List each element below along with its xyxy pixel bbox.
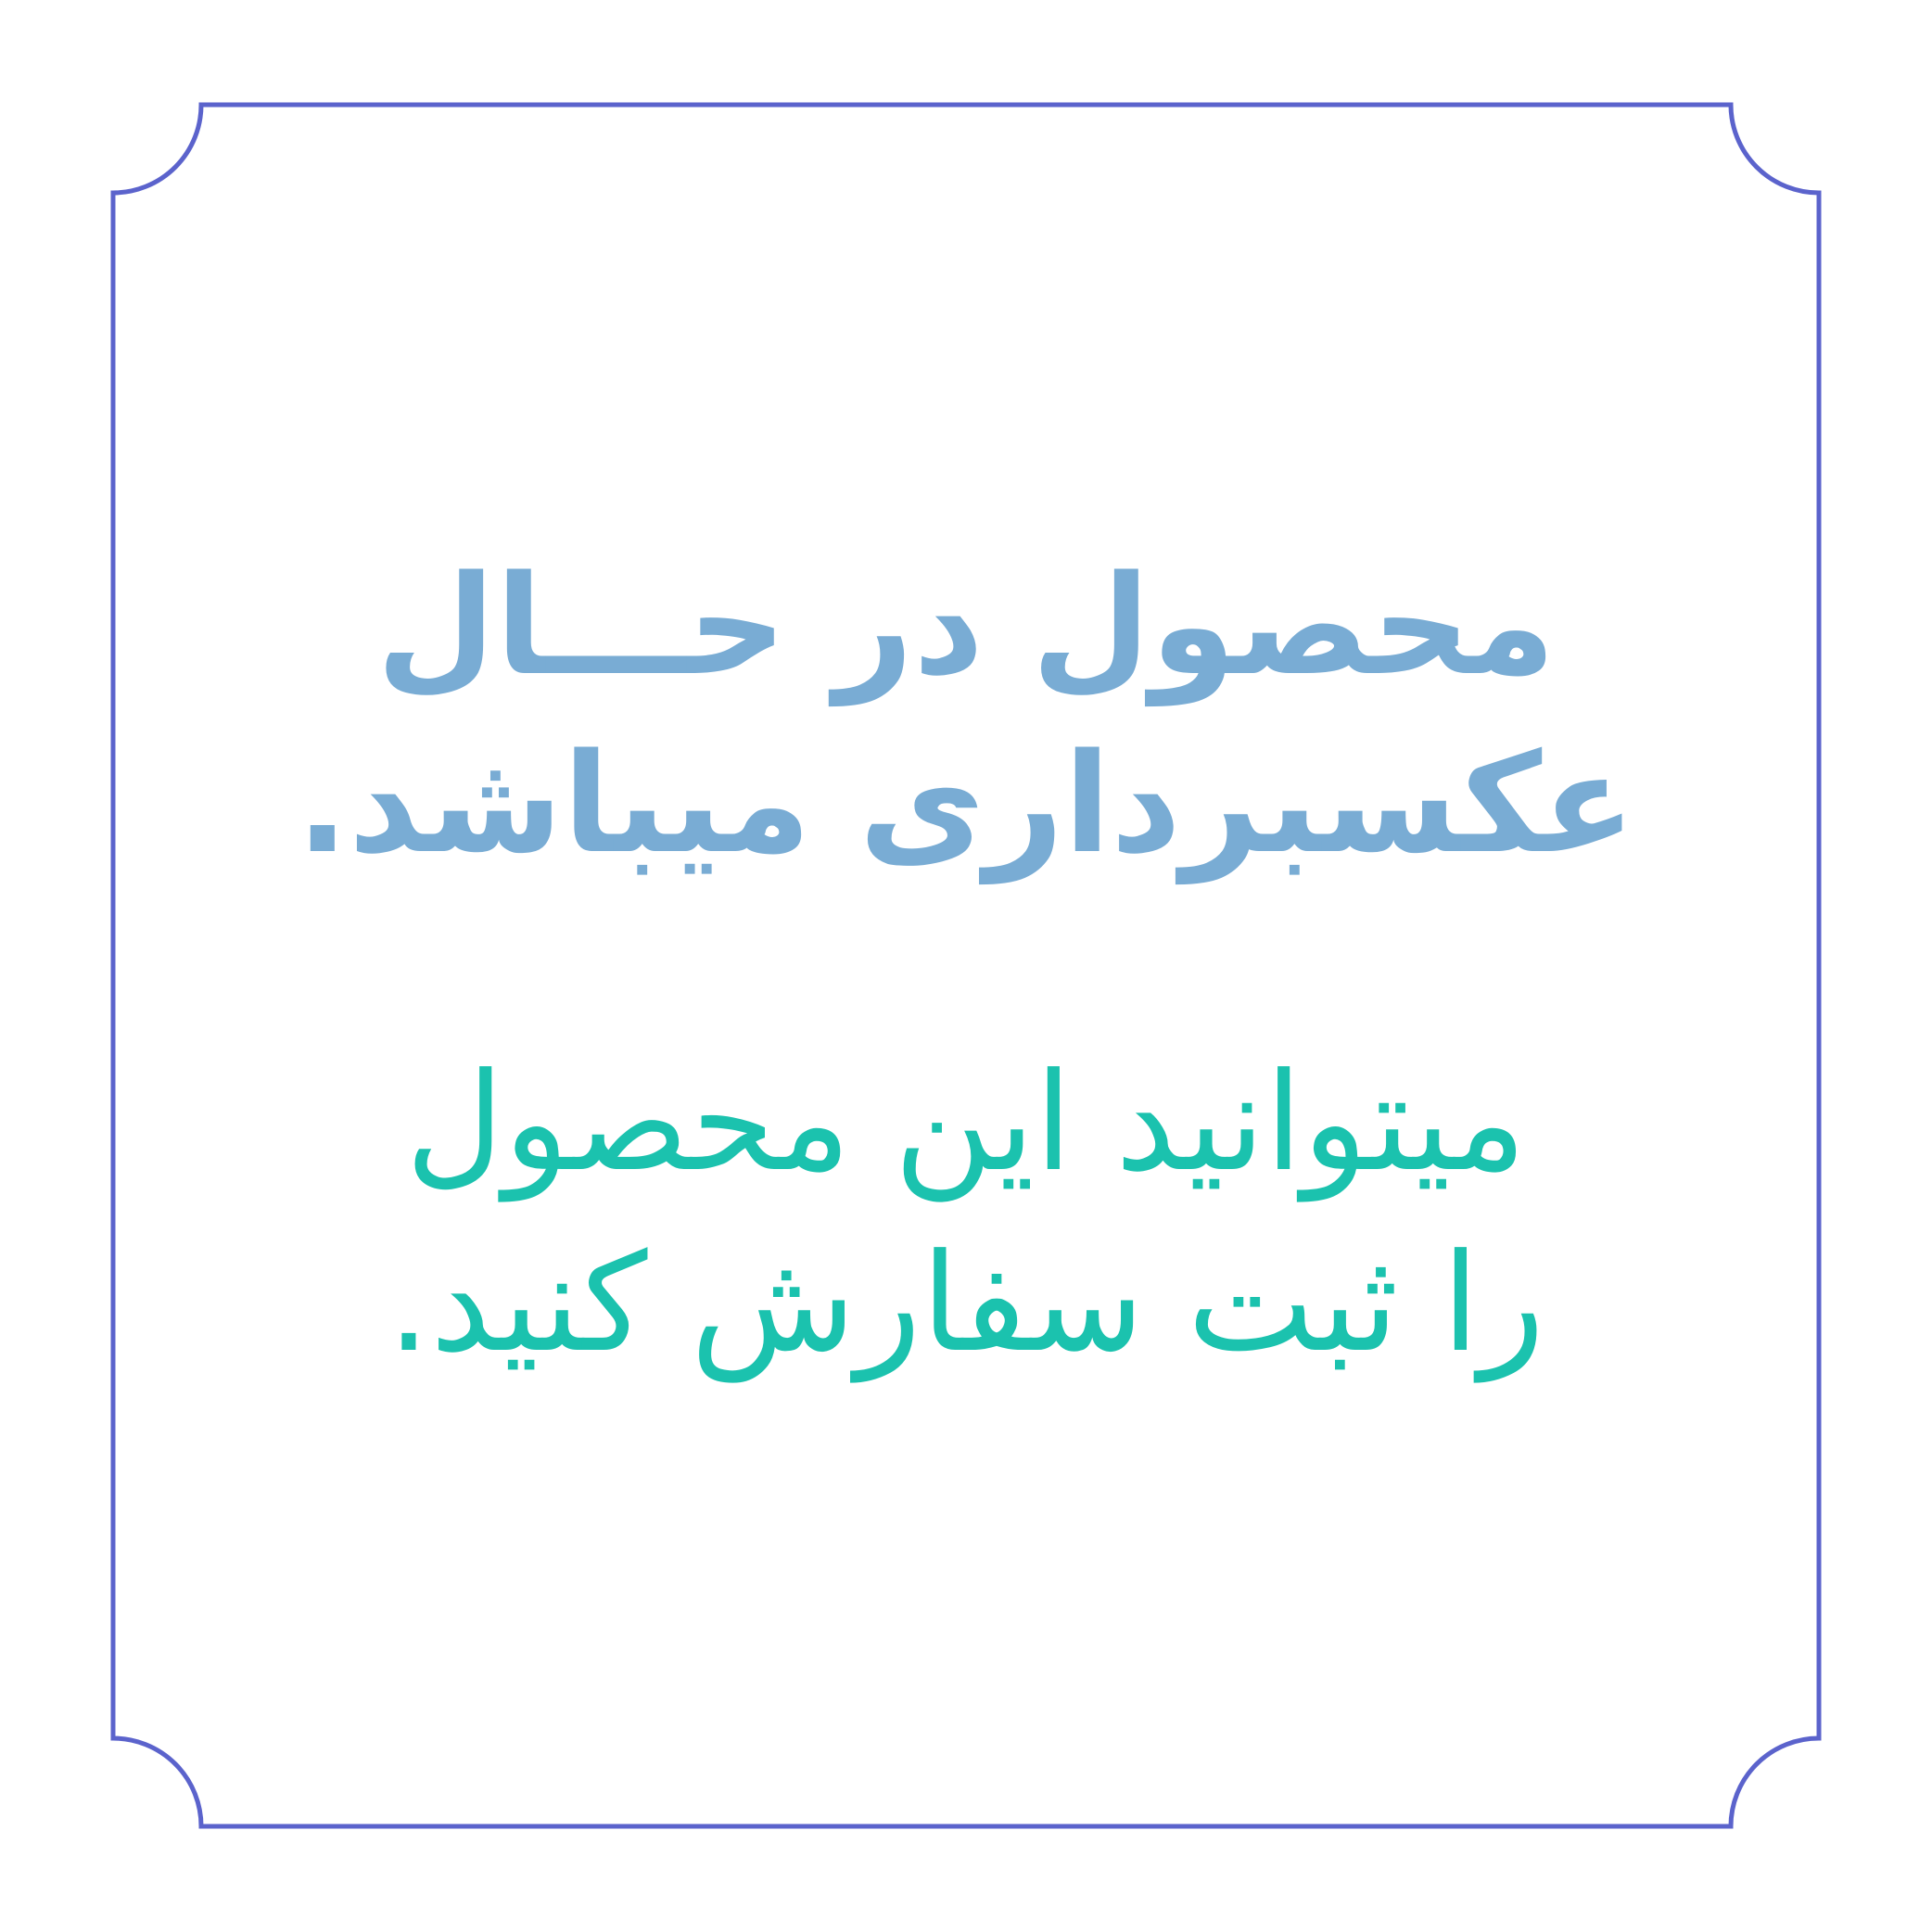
notice-line-1: محصول در حـــال <box>271 537 1661 715</box>
notice-line-2: عکسبرداری میباشد. <box>271 715 1661 893</box>
cta-line-2: را ثبت سفارش کنید. <box>271 1214 1661 1395</box>
placeholder-card: محصول در حـــال عکسبرداری میباشد. میتوان… <box>0 0 1932 1932</box>
message-stack: محصول در حـــال عکسبرداری میباشد. میتوان… <box>0 0 1932 1932</box>
cta-block: میتوانید این محصول را ثبت سفارش کنید. <box>271 1033 1661 1395</box>
cta-line-1: میتوانید این محصول <box>271 1033 1661 1214</box>
notice-block: محصول در حـــال عکسبرداری میباشد. <box>271 537 1661 894</box>
